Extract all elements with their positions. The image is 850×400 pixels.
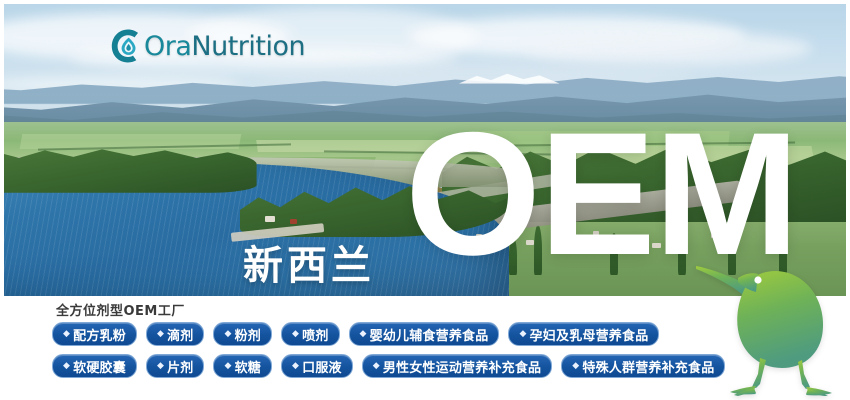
product-pill[interactable]: ◆配方乳粉 [52,322,137,346]
diamond-bullet-icon: ◆ [572,362,579,371]
product-pill[interactable]: ◆婴幼儿辅食营养食品 [349,322,500,346]
product-pill-label: 婴幼儿辅食营养食品 [370,325,489,344]
brand-logo[interactable]: OraNutrition [110,26,305,66]
building [290,219,297,224]
pill-row-2: ◆软硬胶囊 ◆片剂 ◆软糖 ◆口服液 ◆男性女性运动营养补充食品 ◆特殊人群营养… [52,354,725,378]
product-pill[interactable]: ◆喷剂 [281,322,340,346]
product-pill[interactable]: ◆孕妇及乳母营养食品 [508,322,659,346]
pill-row-1: ◆配方乳粉 ◆滴剂 ◆粉剂 ◆喷剂 ◆婴幼儿辅食营养食品 ◆孕妇及乳母营养食品 [52,322,725,346]
product-pill-label: 孕妇及乳母营养食品 [530,325,649,344]
diamond-bullet-icon: ◆ [63,330,70,339]
product-pill-label: 滴剂 [167,325,193,344]
product-pill-label: 片剂 [167,357,193,376]
diamond-bullet-icon: ◆ [224,362,231,371]
diamond-bullet-icon: ◆ [224,330,231,339]
product-pill-label: 软硬胶囊 [73,357,126,376]
product-pill[interactable]: ◆软硬胶囊 [52,354,137,378]
brand-logo-nutrition: Nutrition [191,31,305,62]
diamond-bullet-icon: ◆ [292,330,299,339]
diamond-bullet-icon: ◆ [157,362,164,371]
oem-promo-banner: OraNutrition 新西兰 OEM 全 [0,0,850,400]
water-drop-icon [110,27,146,65]
panel-title: 全方位剂型OEM工厂 [56,300,185,319]
diamond-bullet-icon: ◆ [292,362,299,371]
product-pill-label: 粉剂 [235,325,261,344]
product-pill-label: 男性女性运动营养补充食品 [383,357,541,376]
product-pill-label: 口服液 [302,357,342,376]
product-pill-rows: ◆配方乳粉 ◆滴剂 ◆粉剂 ◆喷剂 ◆婴幼儿辅食营养食品 ◆孕妇及乳母营养食品 … [52,322,725,386]
product-pill[interactable]: ◆男性女性运动营养补充食品 [362,354,553,378]
product-pill-label: 软糖 [235,357,261,376]
product-pill-label: 配方乳粉 [73,325,126,344]
hero-country-label: 新西兰 [243,233,375,291]
product-pill[interactable]: ◆软糖 [213,354,272,378]
diamond-bullet-icon: ◆ [373,362,380,371]
kiwi-bird-icon [694,256,844,396]
building [265,216,275,222]
product-pill-label: 喷剂 [302,325,328,344]
diamond-bullet-icon: ◆ [360,330,367,339]
brand-logo-text: OraNutrition [144,31,305,62]
diamond-bullet-icon: ◆ [157,330,164,339]
product-pill[interactable]: ◆口服液 [281,354,353,378]
diamond-bullet-icon: ◆ [63,362,70,371]
product-pill[interactable]: ◆粉剂 [213,322,272,346]
product-pill[interactable]: ◆片剂 [146,354,205,378]
brand-logo-ora: Ora [144,31,191,62]
cloud [526,31,812,66]
product-pill[interactable]: ◆滴剂 [146,322,205,346]
hero-headline: OEM [405,120,798,271]
diamond-bullet-icon: ◆ [519,330,526,339]
